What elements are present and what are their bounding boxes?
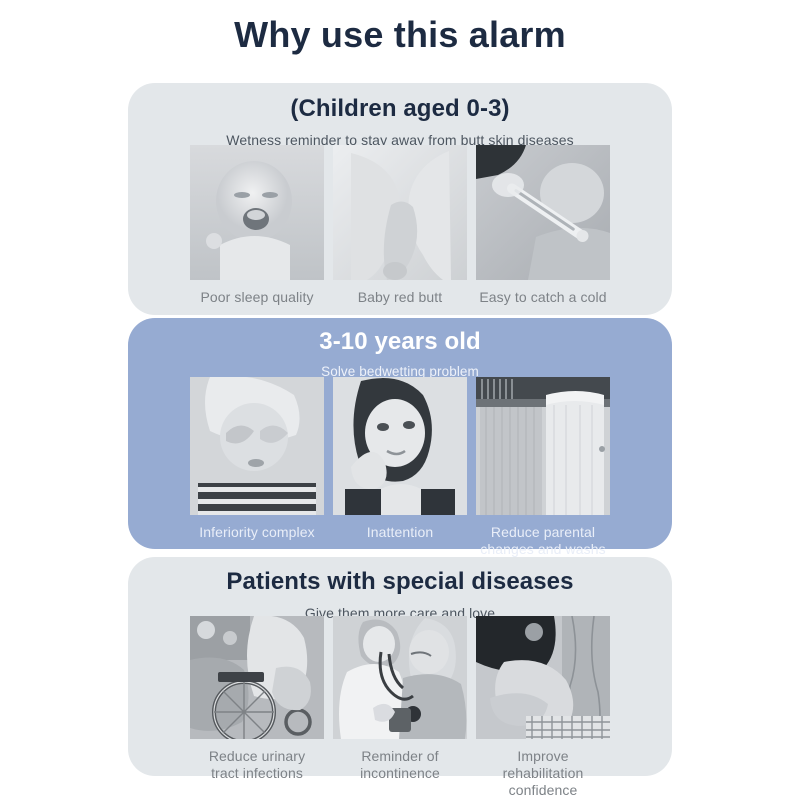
section-years-3-10: 3-10 years old Solve bedwetting problem bbox=[128, 318, 672, 549]
laundry-drying-photo bbox=[476, 377, 610, 515]
tile-caption: Reduce parental changes and washs bbox=[480, 524, 605, 558]
section-heading: 3-10 years old bbox=[128, 328, 672, 356]
section-heading: Patients with special diseases bbox=[128, 568, 672, 596]
tile-caption: Easy to catch a cold bbox=[479, 289, 606, 306]
promo-page: Why use this alarm (Children aged 0-3) W… bbox=[0, 0, 800, 800]
tile-row: Reduce urinary tract infections bbox=[190, 616, 610, 799]
wheelchair-patient-photo bbox=[190, 616, 324, 739]
section-special-diseases: Patients with special diseases Give them… bbox=[128, 557, 672, 776]
thermometer-baby-photo bbox=[476, 145, 610, 280]
page-title: Why use this alarm bbox=[0, 14, 800, 56]
boy-rubbing-eyes-photo bbox=[190, 377, 324, 515]
crying-baby-photo bbox=[190, 145, 324, 280]
tile-caption: Reminder of incontinence bbox=[360, 748, 440, 782]
caregiver-assisting-photo bbox=[476, 616, 610, 739]
tile-caption: Inferiority complex bbox=[199, 524, 315, 541]
tile-caption: Poor sleep quality bbox=[200, 289, 313, 306]
section-heading: (Children aged 0-3) bbox=[128, 95, 672, 123]
tile-caption: Inattention bbox=[367, 524, 434, 541]
tile-item[interactable]: Inattention bbox=[333, 377, 467, 558]
girl-daydreaming-photo bbox=[333, 377, 467, 515]
tile-item[interactable]: Reduce parental changes and washs bbox=[476, 377, 610, 558]
nurse-stethoscope-photo bbox=[333, 616, 467, 739]
tile-caption: Baby red butt bbox=[358, 289, 443, 306]
tile-item[interactable]: Reduce urinary tract infections bbox=[190, 616, 324, 799]
tile-caption: Reduce urinary tract infections bbox=[209, 748, 305, 782]
tile-caption: Improve rehabilitation confidence bbox=[476, 748, 610, 799]
tile-row: Inferiority complex bbox=[190, 377, 610, 558]
baby-legs-photo bbox=[333, 145, 467, 280]
tile-item[interactable]: Reminder of incontinence bbox=[333, 616, 467, 799]
tile-row: Poor sleep quality bbox=[190, 145, 610, 306]
tile-item[interactable]: Inferiority complex bbox=[190, 377, 324, 558]
tile-item[interactable]: Improve rehabilitation confidence bbox=[476, 616, 610, 799]
tile-item[interactable]: Poor sleep quality bbox=[190, 145, 324, 306]
section-children-0-3: (Children aged 0-3) Wetness reminder to … bbox=[128, 83, 672, 315]
tile-item[interactable]: Easy to catch a cold bbox=[476, 145, 610, 306]
tile-item[interactable]: Baby red butt bbox=[333, 145, 467, 306]
